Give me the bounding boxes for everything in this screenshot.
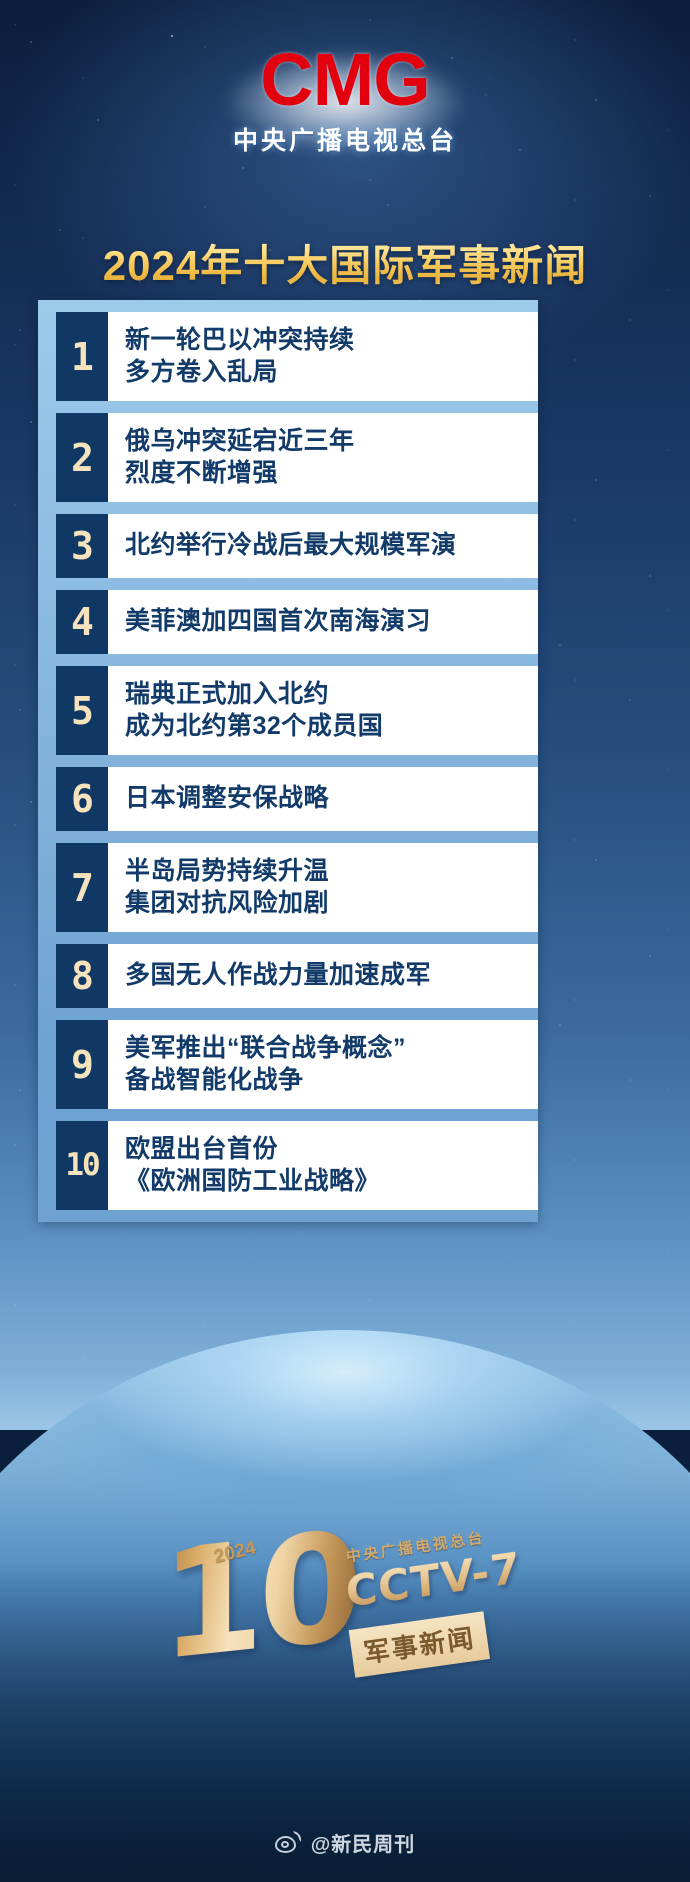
news-item-line: 多方卷入乱局 xyxy=(125,357,524,389)
news-item-line: 美军推出“联合战争概念” xyxy=(125,1033,524,1065)
emblem-text-block: 中央广播电视总台 CCTV-7 军事新闻 xyxy=(346,1546,546,1678)
news-item-card: 欧盟出台首份《欧洲国防工业战略》 xyxy=(108,1121,538,1210)
poster-root: CMG 中央广播电视总台 2024年十大国际军事新闻 1新一轮巴以冲突持续多方卷… xyxy=(0,0,690,1882)
page-title-wrap: 2024年十大国际军事新闻 xyxy=(0,232,690,293)
header: CMG 中央广播电视总台 xyxy=(0,0,690,205)
bottom-emblem: 10 2024 中央广播电视总台 CCTV-7 军事新闻 xyxy=(0,1492,690,1752)
news-item-line: 日本调整安保战略 xyxy=(125,783,524,815)
news-item-line: 多国无人作战力量加速成军 xyxy=(125,960,524,992)
weibo-icon xyxy=(275,1832,302,1853)
news-list-panel: 1新一轮巴以冲突持续多方卷入乱局2俄乌冲突延宕近三年烈度不断增强3北约举行冷战后… xyxy=(38,300,538,1222)
news-item-line: 瑞典正式加入北约 xyxy=(125,679,524,711)
news-item-number: 3 xyxy=(56,514,108,578)
news-item-card: 美菲澳加四国首次南海演习 xyxy=(108,590,538,654)
news-item-line: 烈度不断增强 xyxy=(125,458,524,490)
news-item-card: 俄乌冲突延宕近三年烈度不断增强 xyxy=(108,413,538,502)
news-item-2: 2俄乌冲突延宕近三年烈度不断增强 xyxy=(38,413,538,502)
news-item-8: 8多国无人作战力量加速成军 xyxy=(38,944,538,1008)
news-item-number: 7 xyxy=(56,843,108,932)
news-item-number: 2 xyxy=(56,413,108,502)
cmg-logo-text: CMG xyxy=(260,44,430,115)
news-item-card: 半岛局势持续升温集团对抗风险加剧 xyxy=(108,843,538,932)
cmg-logo-subtitle: 中央广播电视总台 xyxy=(233,121,457,157)
news-item-9: 9美军推出“联合战争概念”备战智能化战争 xyxy=(38,1020,538,1109)
news-item-5: 5瑞典正式加入北约成为北约第32个成员国 xyxy=(38,666,538,755)
news-item-line: 美菲澳加四国首次南海演习 xyxy=(125,606,524,638)
news-item-4: 4美菲澳加四国首次南海演习 xyxy=(38,590,538,654)
news-item-line: 备战智能化战争 xyxy=(125,1065,524,1097)
news-item-card: 日本调整安保战略 xyxy=(108,767,538,831)
news-item-card: 瑞典正式加入北约成为北约第32个成员国 xyxy=(108,666,538,755)
emblem-big-number: 10 xyxy=(160,1512,357,1683)
news-item-number: 4 xyxy=(56,590,108,654)
news-item-7: 7半岛局势持续升温集团对抗风险加剧 xyxy=(38,843,538,932)
news-item-6: 6日本调整安保战略 xyxy=(38,767,538,831)
news-item-line: 《欧洲国防工业战略》 xyxy=(125,1166,524,1198)
page-title: 2024年十大国际军事新闻 xyxy=(103,232,587,293)
watermark: @新民周刊 xyxy=(0,1828,690,1857)
news-item-number: 1 xyxy=(56,312,108,401)
news-item-10: 10欧盟出台首份《欧洲国防工业战略》 xyxy=(38,1121,538,1210)
news-item-card: 北约举行冷战后最大规模军演 xyxy=(108,514,538,578)
news-item-line: 俄乌冲突延宕近三年 xyxy=(125,426,524,458)
news-item-line: 欧盟出台首份 xyxy=(125,1134,524,1166)
news-item-1: 1新一轮巴以冲突持续多方卷入乱局 xyxy=(38,312,538,401)
news-item-number: 5 xyxy=(56,666,108,755)
news-item-card: 新一轮巴以冲突持续多方卷入乱局 xyxy=(108,312,538,401)
news-item-number: 9 xyxy=(56,1020,108,1109)
news-item-card: 多国无人作战力量加速成军 xyxy=(108,944,538,1008)
news-item-number: 8 xyxy=(56,944,108,1008)
news-item-line: 集团对抗风险加剧 xyxy=(125,888,524,920)
news-item-line: 新一轮巴以冲突持续 xyxy=(125,325,524,357)
news-item-card: 美军推出“联合战争概念”备战智能化战争 xyxy=(108,1020,538,1109)
watermark-handle: @新民周刊 xyxy=(311,1828,416,1857)
emblem-program: 军事新闻 xyxy=(349,1611,490,1677)
news-item-line: 北约举行冷战后最大规模军演 xyxy=(125,530,524,562)
news-item-number: 10 xyxy=(56,1121,108,1210)
news-item-line: 成为北约第32个成员国 xyxy=(125,711,524,743)
news-item-number: 6 xyxy=(56,767,108,831)
news-item-line: 半岛局势持续升温 xyxy=(125,856,524,888)
news-item-3: 3北约举行冷战后最大规模军演 xyxy=(38,514,538,578)
